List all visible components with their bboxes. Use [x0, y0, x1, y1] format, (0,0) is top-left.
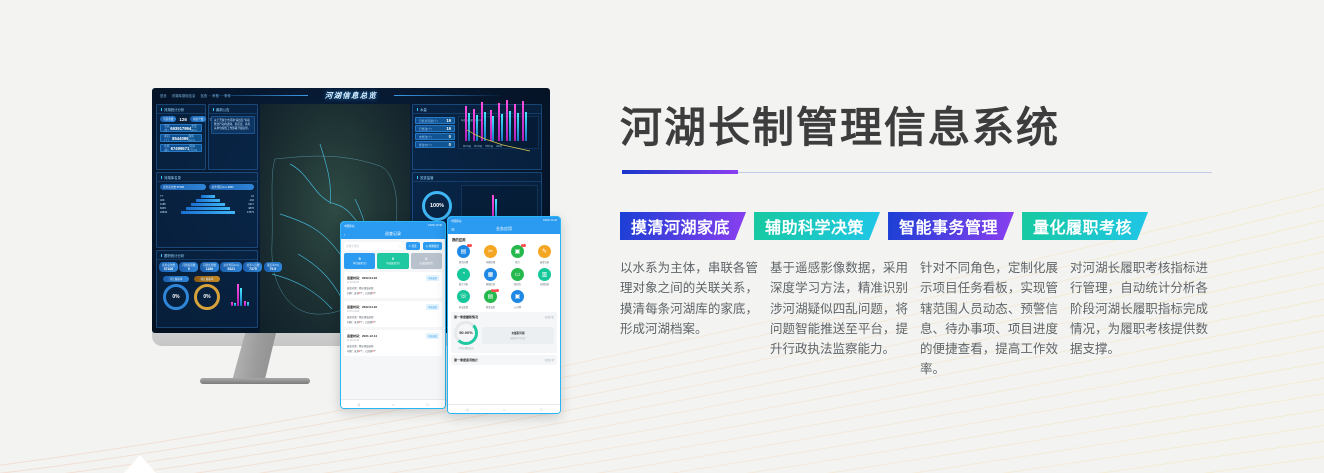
pill-label-river: 河道条数	[160, 116, 176, 122]
gauge-river-value: 0%	[163, 284, 189, 310]
water-chart-legend: 用水总量 供水总量 可供水量 达标率	[463, 145, 502, 148]
pyramid-left-4: 18843	[160, 211, 167, 215]
feature-description-0: 以水系为主体，串联各管理对象之间的关联关系，摸清每条河湖库的家底，形成河湖档案。	[620, 258, 770, 380]
right-stat-value-2: 0	[449, 134, 451, 139]
right-stat-value-3: 0	[449, 142, 451, 147]
dashboard-title: 河湖信息总览	[325, 90, 377, 101]
phone-right-title: 业务应用	[496, 226, 512, 232]
app-item[interactable]: ▣ 1 助力	[505, 245, 530, 264]
stat-bar-river-right-label: 长度(km)	[191, 124, 198, 132]
right-stat-value-1: 19	[446, 126, 451, 131]
record-header: 巡查时间：2021.12.14 有效巡查	[347, 333, 439, 339]
search-icon[interactable]: ⌕	[399, 245, 400, 248]
right-stat-list: 已核查问题(个) 19 已整改(个) 19 未整改(个) 0	[415, 116, 455, 149]
kpi-row-value-1: 0	[182, 267, 195, 271]
duty-progress-header: 第一季度履职情况 查看详情	[454, 315, 554, 319]
nav-home-icon[interactable]: ○	[392, 402, 394, 407]
panel-notice-title: 最新公告	[209, 105, 257, 114]
kpi-row-value-3: 9321	[223, 267, 239, 271]
tile-valid[interactable]: 9 有效巡查(次)	[377, 253, 408, 269]
app-badge: NEW	[491, 289, 499, 292]
app-label: 问题处理	[478, 260, 503, 264]
duty-donut-value: 50.00%	[454, 321, 478, 345]
kpi-value-3: 9321	[228, 186, 234, 189]
nav-home-icon[interactable]: ○	[503, 407, 505, 412]
app-label: 助力	[505, 260, 530, 264]
right-stat-label-0: 已核查问题(个)	[419, 119, 438, 123]
phone-right-statusbar: 中国移动 100% 13:42	[448, 217, 560, 224]
duty-progress-card: 第一季度履职情况 查看详情 50.00% 河湖长履职进度 未履职河湖 崩湖库岸中…	[451, 312, 557, 353]
record-time: 11:08-12:43	[347, 340, 439, 342]
patrol-stats-more[interactable]: 查看详情	[545, 358, 554, 362]
phone-right-navbar[interactable]: ◁ ○ □	[448, 404, 560, 413]
record-time: 11:10-00:00	[347, 282, 439, 284]
stat-bar-lake-right-value: 4096	[179, 136, 188, 141]
panel-river-stats-title: 河湖统计分析	[157, 105, 205, 114]
panel-river-directory-title: 河湖库名录	[157, 173, 257, 182]
patrol-stats-title: 第一季度巡河统计	[454, 358, 478, 362]
record-tag: 有效巡查	[426, 304, 439, 310]
stat-bar-river-right-value: 17994	[180, 126, 192, 131]
pyramid-level-1	[196, 199, 220, 202]
filter-button[interactable]: ⏷ 筛选	[406, 242, 420, 250]
nav-back-icon[interactable]: ◁	[465, 407, 468, 412]
tile-month-total-label: 本月巡查(次)	[353, 262, 367, 265]
phone-left-body: 关键字搜索 ⌕ ⏷ 筛选 ◎ 地图模式 9 本月巡查(次)	[341, 239, 445, 409]
pyramid-chart: 77 329 1188 8295 18843 10 402 1917 3876	[157, 190, 257, 242]
duty-progress-more[interactable]: 查看详情	[545, 315, 554, 319]
phone-left-titlebar: ‹ 巡查记录	[341, 229, 445, 239]
kpi-value-0: 57106	[177, 186, 184, 189]
gauge-lake-label: 湖长履职率	[194, 276, 220, 282]
panel-river-stats: 河湖统计分析 河道条数 126 湖泊个数 7 河道(条) 6939 17994 …	[156, 104, 206, 170]
app-badge: 1	[467, 244, 471, 247]
mini-bar-pair-0	[231, 302, 236, 306]
app-icon[interactable]: ▭	[511, 268, 524, 281]
kpi-tile-1: 问题发现数 0	[179, 262, 198, 272]
map-mode-label: 地图模式	[429, 245, 439, 248]
record-issues: 问题：发现0个，已处理0个	[347, 320, 439, 324]
mini-bar-m-1	[237, 284, 239, 306]
panel-inspection-title: 巡查监管	[413, 173, 541, 182]
pyramid-level-0	[201, 195, 215, 198]
water-bar-chart: 年度水量统计(万m³)	[458, 116, 539, 149]
record-date: 巡查时间：2022.04.22	[347, 305, 377, 309]
stat-bar-reservoir-right-label: 库容(万m³)	[189, 144, 198, 152]
record-issues: 问题：发现0个，已处理0个	[347, 291, 439, 295]
directory-summary: 巡查总次数 57106 巡查里程(km) 9321	[157, 182, 257, 190]
duty-progress-title: 第一季度履职情况	[454, 315, 478, 319]
app-item[interactable]: ▦ 基础信息	[478, 268, 503, 287]
nav-item-1[interactable]: 河湖库基础信息	[172, 93, 196, 98]
app-item[interactable]: ▤ NEW 四乱核查	[478, 290, 503, 309]
app-item[interactable]: ✂ 问题处理	[478, 245, 503, 264]
panel-duty-stats: 履职统计分析 巡查总次数 57106 问题发现数 0 问题处理数	[156, 250, 258, 328]
app-label: 基础信息	[478, 282, 503, 286]
right-stat-2: 未整改(个) 0	[415, 133, 455, 140]
feature-description-1: 基于遥感影像数据，采用深度学习方法，精准识别涉河湖疑似四乱问题，将问题智能推送至…	[770, 258, 920, 380]
nav-recents-icon[interactable]: □	[540, 407, 542, 412]
legend-item-1: 供水总量	[474, 145, 482, 148]
record-location: 巡查河湖：晒水湖及崩湖	[347, 286, 439, 290]
divider-accent	[622, 170, 738, 174]
record-date: 巡查时间：2021.12.14	[347, 334, 377, 338]
stat-bar-reservoir-right-value: 9571	[180, 146, 189, 151]
right-stat-label-1: 已整改(个)	[419, 127, 432, 131]
nav-back-icon[interactable]: ◁	[357, 402, 360, 407]
unfulfilled-title: 未履职河湖	[486, 331, 550, 335]
kpi-row-value-2: 1160	[203, 267, 216, 271]
app-icon[interactable]: ◔	[457, 268, 470, 281]
search-input[interactable]: 关键字搜索 ⌕	[344, 242, 403, 250]
duty-donut-label: 河湖长履职进度	[454, 346, 478, 350]
kpi-label-0: 巡查总次数	[163, 186, 176, 189]
mini-bar-pair-1	[237, 284, 242, 306]
tile-valid-label: 有效巡查(次)	[386, 262, 400, 265]
notice-text: 关于开展全市河湖"清四乱"专项整治行动的通知，各区县、各有关单位按照工作部署开展…	[214, 119, 252, 131]
app-label: 在线培训	[532, 282, 557, 286]
mini-bars	[231, 284, 249, 306]
patrol-stats-card: 第一季度巡河统计 查看详情	[451, 355, 557, 365]
stat-bar-lake: 湖泊(个) 854 4096 面积(km²)	[160, 134, 202, 142]
pill-label-lake: 湖泊个数	[190, 116, 206, 122]
feature-tags: 摸清河湖家底 辅助科学决策 智能事务管理 量化履职考核	[620, 212, 1156, 240]
app-label: 知识库	[505, 282, 530, 286]
filter-label: 筛选	[411, 245, 416, 248]
app-item[interactable]: ◔ 统计分析	[451, 268, 476, 287]
water-volume-body: 已核查问题(个) 19 已整改(个) 19 未整改(个) 0	[413, 114, 541, 151]
kpi-tile-2: 问题处理数 1160	[200, 262, 219, 272]
river-count-pills: 河道条数 126 湖泊个数 7	[157, 114, 205, 122]
feature-description-3: 对河湖长履职考核指标进行管理，自动统计分析各阶段河湖长履职指标完成情况，为履职考…	[1070, 258, 1220, 380]
duty-donut: 50.00% 河湖长履职进度	[454, 321, 478, 350]
app-item[interactable]: ▣ 公示牌	[505, 290, 530, 309]
right-stat-0: 已核查问题(个) 19	[415, 117, 455, 124]
page-title: 河湖长制管理信息系统	[620, 94, 1060, 155]
app-icon[interactable]: ✂	[484, 245, 497, 258]
app-label: 公示牌	[505, 305, 530, 309]
app-label: 统计分析	[451, 282, 476, 286]
record-location: 巡查河湖：晒水湖及崩湖	[347, 315, 439, 319]
pill-value-river: 126	[179, 117, 187, 122]
gauge-river: 河长履职率 0%	[163, 276, 189, 310]
kpi-row-value-5: 79.9	[267, 267, 279, 271]
kpi-tile-4: 巡查人员数 7375	[243, 262, 262, 272]
mini-bar-chart	[225, 276, 253, 310]
mini-bar-c-2	[247, 302, 249, 306]
app-icon[interactable]: ▦	[484, 268, 497, 281]
stat-bar-reservoir-left-value: 6749	[171, 146, 180, 151]
record-issues: 问题：发现2个，已处理0个	[347, 349, 439, 353]
phone-left-carrier: 中国移动	[344, 224, 354, 228]
app-item[interactable]: ▭ 知识库	[505, 268, 530, 287]
phone-business-apps: 中国移动 100% 13:42 ☰ 业务应用 我的应用 ▤ 1 事务办理 ✂	[447, 216, 561, 414]
app-badge: 1	[521, 244, 525, 247]
phone-left-navbar[interactable]: ◁ ○ □	[341, 399, 445, 408]
search-placeholder: 关键字搜索	[346, 244, 359, 248]
mini-bar-m-0	[231, 302, 233, 306]
app-item[interactable]: ▤ 1 事务办理	[451, 245, 476, 264]
gauge-lake-value: 0%	[194, 284, 220, 310]
unfulfilled-sub: 崩湖库岸中市区	[486, 336, 550, 340]
nav-recents-icon[interactable]: □	[427, 402, 429, 407]
panel-notice: 最新公告 关于开展全市河湖"清四乱"专项整治行动的通知，各区县、各有关单位按照工…	[208, 104, 258, 170]
app-item[interactable]: ✎ 巡查记录	[532, 245, 557, 264]
pyramid-right-4: 17873	[247, 211, 254, 215]
tile-invalid-label: 无效巡查(次)	[420, 262, 434, 265]
phone-inspection-records: 中国移动 100% 13:46 ‹ 巡查记录 关键字搜索 ⌕ ⏷ 筛选	[340, 221, 446, 409]
panel-duty-stats-title: 履职统计分析	[157, 251, 257, 260]
app-icon[interactable]: ✎	[538, 245, 551, 258]
gauge-river-label: 河长履职率	[163, 276, 189, 282]
app-item[interactable]: ▥ 在线培训	[532, 268, 557, 287]
stat-bar-reservoir-left-label: 水库(座)	[164, 144, 171, 152]
record-item[interactable]: 巡查时间：2021.12.14 有效巡查 11:08-12:43 巡查河湖：晒水…	[344, 330, 442, 356]
notice-item[interactable]: 关于开展全市河湖"清四乱"专项整治行动的通知，各区县、各有关单位按照工作部署开展…	[211, 116, 255, 134]
kpi-tile-5: 覆盖率(%) 79.9	[264, 262, 282, 272]
feature-tag-0[interactable]: 摸清河湖家底	[620, 212, 746, 240]
kpi-row: 巡查总次数 57106 问题发现数 0 问题处理数 1160	[157, 260, 257, 272]
mini-bar-pair-2	[244, 301, 249, 306]
record-header: 巡查时间：2022.04.22 有效巡查	[347, 304, 439, 310]
gauge-row: 河长履职率 0% 湖长履职率 0%	[157, 272, 257, 310]
legend-item-3: 达标率	[496, 145, 502, 148]
record-time: 10:07-11:09	[347, 311, 439, 313]
record-item[interactable]: 巡查时间：2022.04.23 有效巡查 11:10-00:00 巡查河湖：晒水…	[344, 272, 442, 298]
map-mode-button[interactable]: ◎ 地图模式	[423, 242, 442, 250]
pyramid-right-values: 10 402 1917 3876 17873	[247, 195, 254, 215]
stat-bar-lake-right-label: 面积(km²)	[188, 134, 198, 142]
feature-descriptions: 以水系为主体，串联各管理对象之间的关联关系，摸清每条河湖库的家底，形成河湖档案。…	[620, 258, 1220, 380]
unfulfilled-box: 未履职河湖 崩湖库岸中市区	[482, 327, 554, 344]
stat-bar-river-left-value: 6939	[170, 126, 179, 131]
tile-month-total[interactable]: 9 本月巡查(次)	[344, 253, 375, 269]
inspection-tiles: 9 本月巡查(次) 9 有效巡查(次) 0 无效巡查(次)	[344, 253, 442, 269]
feature-tag-3[interactable]: 量化履职考核	[1022, 212, 1148, 240]
kpi-label-3: 巡查里程(km)	[212, 186, 228, 189]
kpi-row-value-4: 7375	[246, 267, 259, 271]
app-icon[interactable]: ☏	[457, 290, 470, 303]
phone-right-titlebar: ☰ 业务应用	[448, 224, 560, 234]
map-icon: ◎	[426, 245, 428, 248]
mini-bar-c-1	[240, 288, 242, 306]
stat-bar-lake-left-label: 湖泊(个)	[164, 134, 172, 142]
mini-bar-c-0	[234, 303, 236, 306]
marketing-content: 河湖长制管理信息系统 摸清河湖家底 辅助科学决策 智能事务管理 量化履职考核 以…	[620, 0, 1324, 473]
product-visual: 首页 河湖库基础信息 巡查 考核 事件 河湖信息总览	[0, 0, 600, 473]
phone-left-title: 巡查记录	[385, 231, 401, 237]
mini-bar-m-2	[244, 301, 246, 306]
promo-page: 首页 河湖库基础信息 巡查 考核 事件 河湖信息总览	[0, 0, 1324, 473]
phone-right-body: 我的应用 ▤ 1 事务办理 ✂ 问题处理 ▣ 1 助力	[448, 234, 560, 414]
right-stat-label-2: 未整改(个)	[419, 135, 432, 139]
pyramid-level-3	[186, 207, 230, 210]
patrol-stats-header: 第一季度巡河统计 查看详情	[454, 358, 554, 362]
app-icon[interactable]: ▥	[538, 268, 551, 281]
kpi-row-value-0: 57106	[162, 267, 175, 271]
record-item[interactable]: 巡查时间：2022.04.22 有效巡查 10:07-11:09 巡查河湖：晒水…	[344, 301, 442, 327]
legend-item-0: 用水总量	[463, 145, 471, 148]
stat-bar-river: 河道(条) 6939 17994 长度(km)	[160, 124, 202, 132]
app-icon[interactable]: ▣	[511, 290, 524, 303]
title-line-left	[198, 95, 308, 96]
phone-left-statusbar: 中国移动 100% 13:46	[341, 222, 445, 229]
tile-invalid[interactable]: 0 无效巡查(次)	[411, 253, 442, 269]
record-tag: 有效巡查	[426, 333, 439, 339]
pyramid-level-2	[191, 203, 225, 206]
feature-tag-2[interactable]: 智能事务管理	[888, 212, 1014, 240]
pyramid-left-values: 77 329 1188 8295 18843	[160, 195, 167, 215]
kpi-tile-0: 巡查总次数 57106	[159, 262, 178, 272]
panel-water-volume: 水量 已核查问题(个) 19 已整改(个) 19	[412, 104, 542, 170]
phone-left-status-right: 100% 13:46	[428, 224, 442, 227]
phone-right-carrier: 中国移动	[451, 219, 461, 223]
app-grid: ▤ 1 事务办理 ✂ 问题处理 ▣ 1 助力 ✎ 巡	[451, 245, 557, 309]
stat-bar-reservoir: 水库(座) 6749 9571 库容(万m³)	[160, 144, 202, 152]
right-stat-value-0: 19	[446, 118, 451, 123]
feature-tag-1[interactable]: 辅助科学决策	[754, 212, 880, 240]
back-icon[interactable]: ‹	[344, 232, 345, 237]
stat-bar-lake-left-value: 854	[172, 136, 179, 141]
kpi-tile-3: 巡查里程(km) 9321	[220, 262, 242, 272]
monitor-stand-base	[200, 378, 310, 384]
feature-description-2: 针对不同角色，定制化展示项目任务看板，实现管辖范围人员动态、预警信息、待办事项、…	[920, 258, 1070, 380]
pyramid-body	[179, 194, 237, 214]
right-stat-label-3: 整改中(个)	[419, 143, 432, 147]
gauge-lake: 湖长履职率 0%	[194, 276, 220, 310]
panel-river-directory: 河湖库名录 巡查总次数 57106 巡查里程(km) 9321	[156, 172, 258, 248]
record-tag: 有效巡查	[426, 275, 439, 281]
menu-icon[interactable]: ☰	[451, 227, 455, 232]
pyramid-level-4	[181, 211, 235, 214]
phone-right-status-right: 100% 13:42	[543, 219, 557, 222]
duty-progress-body: 50.00% 河湖长履职进度 未履职河湖 崩湖库岸中市区	[454, 321, 554, 350]
legend-item-2: 可供水量	[485, 145, 493, 148]
app-label: 执法监督	[451, 305, 476, 309]
app-label: 四乱核查	[478, 305, 503, 309]
app-label: 事务办理	[451, 260, 476, 264]
record-date: 巡查时间：2022.04.23	[347, 276, 377, 280]
app-label: 巡查记录	[532, 260, 557, 264]
app-item[interactable]: ☏ 执法监督	[451, 290, 476, 309]
right-stat-3: 整改中(个) 0	[415, 141, 455, 148]
nav-item-0[interactable]: 首页	[160, 93, 167, 98]
title-line-right	[394, 95, 504, 96]
record-header: 巡查时间：2022.04.23 有效巡查	[347, 275, 439, 281]
search-row: 关键字搜索 ⌕ ⏷ 筛选 ◎ 地图模式	[344, 242, 442, 250]
record-location: 巡查河湖：晒水湖及崩湖	[347, 344, 439, 348]
right-stat-1: 已整改(个) 19	[415, 125, 455, 132]
apps-heading: 我的应用	[452, 237, 557, 242]
